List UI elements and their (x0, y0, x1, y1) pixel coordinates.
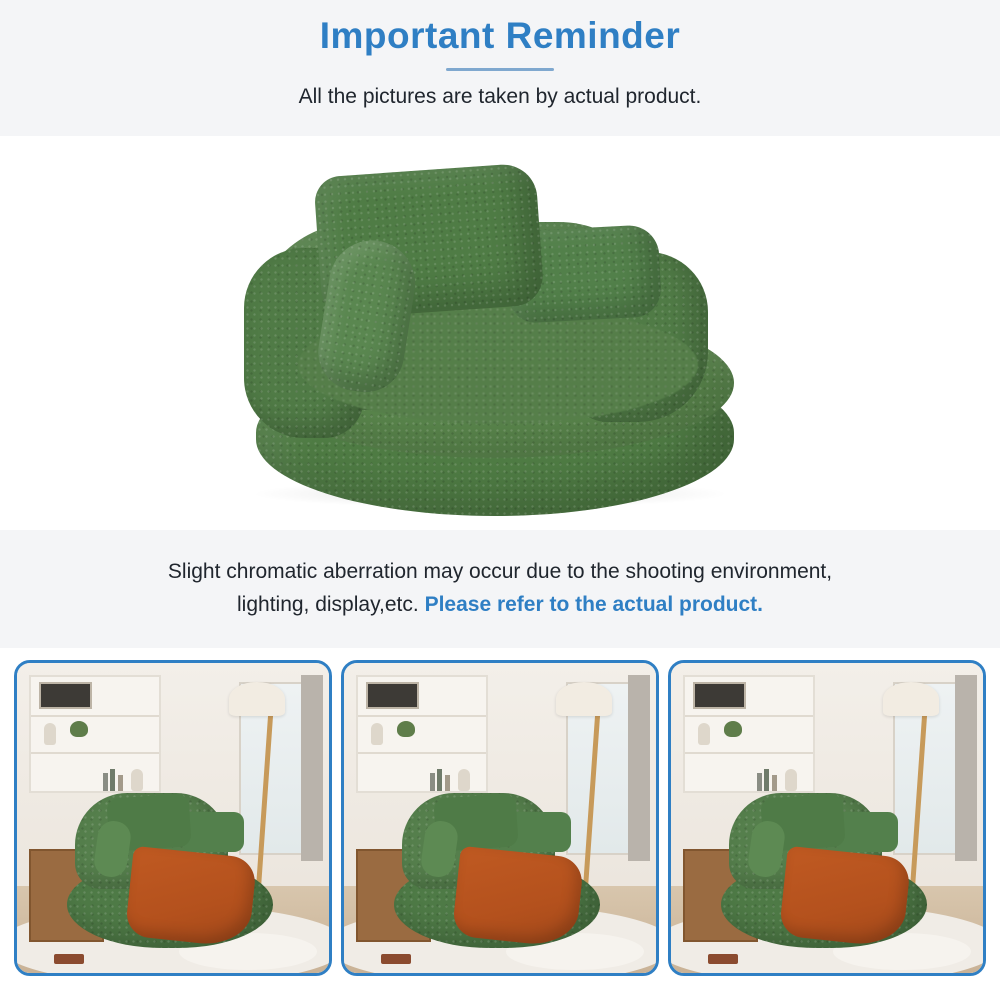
book (110, 769, 115, 791)
orange-throw-blanket (451, 846, 583, 948)
hero-stage (0, 136, 1000, 530)
shelf-row (685, 715, 812, 717)
vase (131, 769, 143, 791)
disclaimer-line-1: Slight chromatic aberration may occur du… (168, 556, 832, 589)
orange-throw-blanket (778, 846, 910, 948)
wall-art-frame (693, 682, 746, 709)
thumb-chair (721, 793, 927, 948)
curtain (301, 675, 323, 861)
disclaimer-accent-text: Please refer to the actual product. (425, 593, 763, 616)
disclaimer-line-2-plain: lighting, display,etc. (237, 593, 419, 616)
vase (458, 769, 470, 791)
wall-art-frame (39, 682, 92, 709)
wall-art-frame (366, 682, 419, 709)
room-scene (17, 663, 329, 973)
book (103, 773, 108, 791)
gallery-thumb-3[interactable] (668, 660, 986, 976)
gallery-thumb-2[interactable] (341, 660, 659, 976)
room-scene (671, 663, 983, 973)
orange-throw-blanket (124, 846, 256, 948)
book (430, 773, 435, 791)
book (772, 775, 777, 791)
product-chair (238, 156, 758, 516)
title-divider (446, 68, 554, 71)
book (445, 775, 450, 791)
thumb-chair (67, 793, 273, 948)
curtain (628, 675, 650, 861)
bookshelf (683, 675, 814, 793)
disclaimer-line-2: lighting, display,etc. Please refer to t… (237, 589, 763, 622)
potted-plant (70, 721, 88, 737)
vase (785, 769, 797, 791)
bookshelf (356, 675, 487, 793)
thumb-chair-pillow-right (836, 812, 898, 852)
product-info-page: Important Reminder All the pictures are … (0, 0, 1000, 1000)
floor-lamp-shade (229, 682, 285, 716)
gallery-thumb-1[interactable] (14, 660, 332, 976)
page-title: Important Reminder (320, 14, 681, 58)
thumb-chair (394, 793, 600, 948)
header-band: Important Reminder All the pictures are … (0, 0, 1000, 136)
curtain (955, 675, 977, 861)
floor-book (708, 954, 738, 964)
book (437, 769, 442, 791)
potted-plant (397, 721, 415, 737)
shelf-row (358, 752, 485, 754)
floor-lamp-shade (556, 682, 612, 716)
shelf-row (31, 715, 158, 717)
gallery-strip (0, 648, 1000, 1000)
vase (44, 723, 56, 745)
thumb-chair-pillow-right (509, 812, 571, 852)
floor-book (381, 954, 411, 964)
vase (371, 723, 383, 745)
header-subtitle: All the pictures are taken by actual pro… (299, 85, 702, 109)
bookshelf (29, 675, 160, 793)
book (118, 775, 123, 791)
floor-lamp-shade (883, 682, 939, 716)
shelf-row (685, 752, 812, 754)
book (764, 769, 769, 791)
book (757, 773, 762, 791)
hero-product-image (0, 136, 1000, 530)
thumb-chair-pillow-right (182, 812, 244, 852)
room-scene (344, 663, 656, 973)
floor-book (54, 954, 84, 964)
vase (698, 723, 710, 745)
potted-plant (724, 721, 742, 737)
shelf-row (358, 715, 485, 717)
shelf-row (31, 752, 158, 754)
disclaimer-band: Slight chromatic aberration may occur du… (0, 530, 1000, 648)
